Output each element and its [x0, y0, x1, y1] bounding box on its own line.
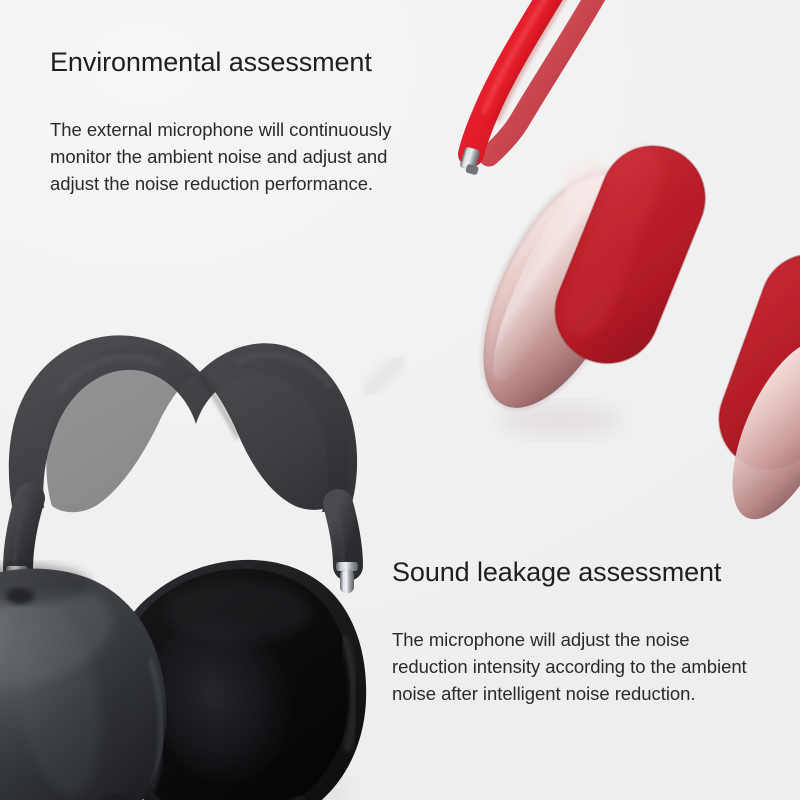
- environmental-body-line-2: monitor the ambient noise and adjust and: [50, 143, 391, 170]
- environmental-body-line-1: The external microphone will continuousl…: [50, 116, 391, 143]
- sound-leakage-body-line-2: reduction intensity according to the amb…: [392, 653, 747, 680]
- sound-leakage-body: The microphone will adjust the noise red…: [392, 626, 747, 707]
- infographic-canvas: Environmental assessment The external mi…: [0, 0, 800, 800]
- sound-leakage-body-line-3: noise after intelligent noise reduction.: [392, 680, 747, 707]
- environmental-body-line-3: adjust the noise reduction performance.: [50, 170, 391, 197]
- environmental-assessment-block: Environmental assessment The external mi…: [50, 48, 391, 197]
- background-smudge-artifact: [361, 357, 407, 396]
- environmental-body: The external microphone will continuousl…: [50, 116, 391, 197]
- sound-leakage-assessment-block: Sound leakage assessment The microphone …: [392, 558, 747, 707]
- environmental-headline: Environmental assessment: [50, 48, 391, 78]
- sound-leakage-headline: Sound leakage assessment: [392, 558, 747, 588]
- sound-leakage-body-line-1: The microphone will adjust the noise: [392, 626, 747, 653]
